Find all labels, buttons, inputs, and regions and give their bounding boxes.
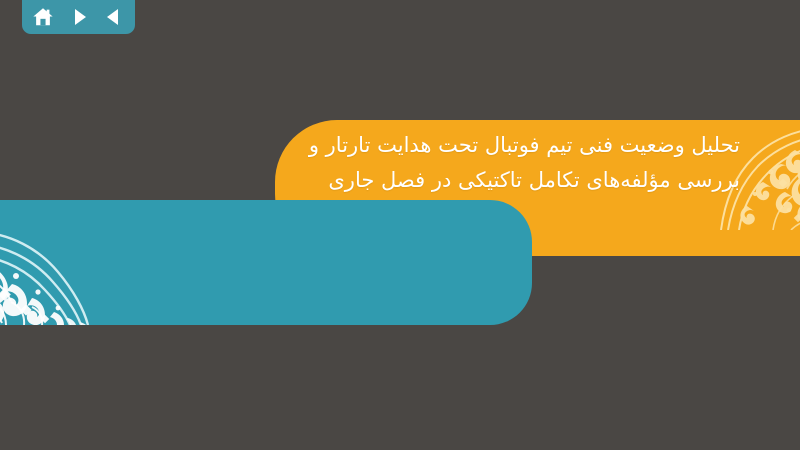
triangle-right-icon [69,7,89,27]
slide-title: تحلیل وضعیت فنی تیم فوتبال تحت هدایت تار… [280,128,740,198]
teal-accent-panel [0,200,532,325]
next-button[interactable] [67,4,89,30]
navigation-bar [22,0,135,34]
triangle-left-icon [104,7,124,27]
home-icon [32,6,54,28]
arabesque-ornament [0,200,135,325]
home-button[interactable] [32,4,54,30]
previous-button[interactable] [103,4,125,30]
slide-canvas: تحلیل وضعیت فنی تیم فوتبال تحت هدایت تار… [0,0,800,450]
